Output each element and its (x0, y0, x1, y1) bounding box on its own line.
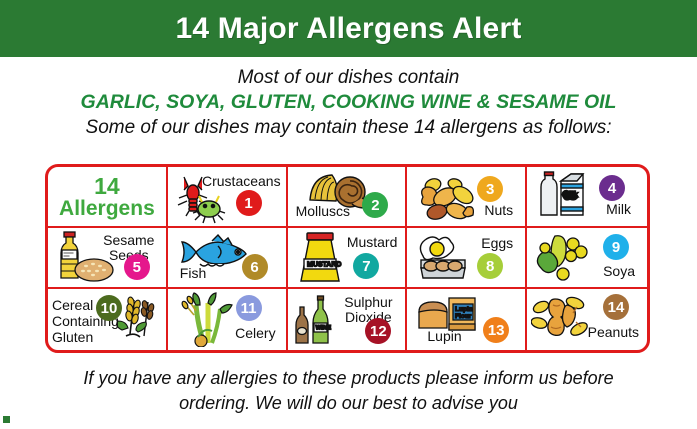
allergen-badge-1: 1 (236, 190, 262, 216)
allergen-badge-9: 9 (603, 234, 629, 260)
allergen-badge-4: 4 (599, 175, 625, 201)
footer-block: If you have any allergies to these produ… (0, 366, 697, 416)
grid-title-number: 14 (94, 175, 120, 198)
footer-line-1: If you have any allergies to these produ… (0, 366, 697, 391)
allergen-cell-eggs[interactable]: Eggs 8 (407, 228, 527, 289)
allergen-cell-nuts[interactable]: Nuts 3 (407, 167, 527, 228)
mixed-nuts-icon (415, 175, 481, 223)
header-bar: 14 Major Allergens Alert (0, 0, 697, 57)
svg-text:MUSTARD: MUSTARD (307, 262, 341, 269)
allergen-label-milk: Milk (606, 201, 631, 217)
allergen-label-peanuts: Peanuts (588, 324, 639, 340)
mustard-bottle-icon: MUSTARD (296, 231, 346, 285)
allergen-badge-5: 5 (124, 254, 150, 280)
footer-line-2: ordering. We will do our best to advise … (0, 391, 697, 416)
allergen-label-soya: Soya (603, 263, 635, 279)
svg-text:WINE: WINE (315, 326, 331, 332)
allergen-badge-11: 11 (236, 295, 262, 321)
svg-text:Milk: Milk (564, 190, 579, 199)
allergen-cell-peanuts[interactable]: Peanuts 14 (527, 289, 647, 350)
allergen-badge-12: 12 (365, 318, 391, 344)
intro-line-2-highlight: GARLIC, SOYA, GLUTEN, COOKING WINE & SES… (0, 90, 697, 115)
intro-line-3: Some of our dishes may contain these 14 … (0, 115, 697, 140)
intro-block: Most of our dishes contain GARLIC, SOYA,… (0, 60, 697, 140)
allergen-badge-6: 6 (242, 254, 268, 280)
page-title: 14 Major Allergens Alert (175, 12, 521, 46)
allergen-badge-13: 13 (483, 317, 509, 343)
allergen-badge-8: 8 (477, 253, 503, 279)
allergen-badge-2: 2 (362, 192, 388, 218)
peanuts-icon (531, 293, 595, 341)
allergen-label-lupin: Lupin (427, 328, 461, 344)
allergen-cell-lupin[interactable]: Lupin Flour Lupin 13 (407, 289, 527, 350)
allergen-cell-fish[interactable]: Fish 6 (168, 228, 288, 289)
svg-text:Lupin: Lupin (455, 306, 473, 313)
celery-icon (174, 291, 236, 347)
allergen-cell-soya[interactable]: Soya 9 (527, 228, 647, 289)
allergen-label-eggs: Eggs (481, 235, 513, 251)
grid-title-word: Allergens (59, 198, 155, 219)
milk-bottle-carton-icon: Milk (533, 169, 593, 221)
allergen-label-nuts: Nuts (484, 202, 513, 218)
allergen-label-molluscs: Molluscs (296, 203, 350, 219)
allergen-label-fish: Fish (180, 265, 206, 281)
corner-mark (3, 416, 10, 423)
allergen-badge-3: 3 (477, 176, 503, 202)
allergen-grid: 14 Allergens (45, 164, 650, 353)
allergen-badge-10: 10 (96, 295, 122, 321)
intro-line-1: Most of our dishes contain (0, 66, 697, 90)
allergen-cell-crustaceans[interactable]: Crustaceans 1 (168, 167, 288, 228)
eggs-carton-icon (413, 232, 477, 284)
svg-text:Flour: Flour (455, 313, 472, 320)
allergen-label-crustaceans: Crustaceans (202, 173, 281, 189)
allergen-cell-celery[interactable]: Celery 11 (168, 289, 288, 350)
allergen-cell-cereal-gluten[interactable]: Cereal Containing Gluten 10 (48, 289, 168, 350)
allergen-poster: 14 Major Allergens Alert Most of our dis… (0, 0, 697, 429)
allergen-badge-7: 7 (353, 253, 379, 279)
allergen-cell-milk[interactable]: Milk Milk 4 (527, 167, 647, 228)
allergen-cell-sesame-seeds[interactable]: Sesame Seeds 5 (48, 228, 168, 289)
allergen-badge-14: 14 (603, 294, 629, 320)
allergen-label-celery: Celery (235, 325, 275, 341)
allergen-cell-mustard[interactable]: MUSTARD Mustard 7 (288, 228, 408, 289)
allergen-cell-molluscs[interactable]: Molluscs 2 (288, 167, 408, 228)
allergen-label-mustard: Mustard (347, 234, 398, 250)
soya-beans-icon (533, 232, 595, 282)
grid-title-cell: 14 Allergens (48, 167, 168, 228)
allergen-cell-sulphur-dioxide[interactable]: WINE Sulphur Dioxide 12 (288, 289, 408, 350)
